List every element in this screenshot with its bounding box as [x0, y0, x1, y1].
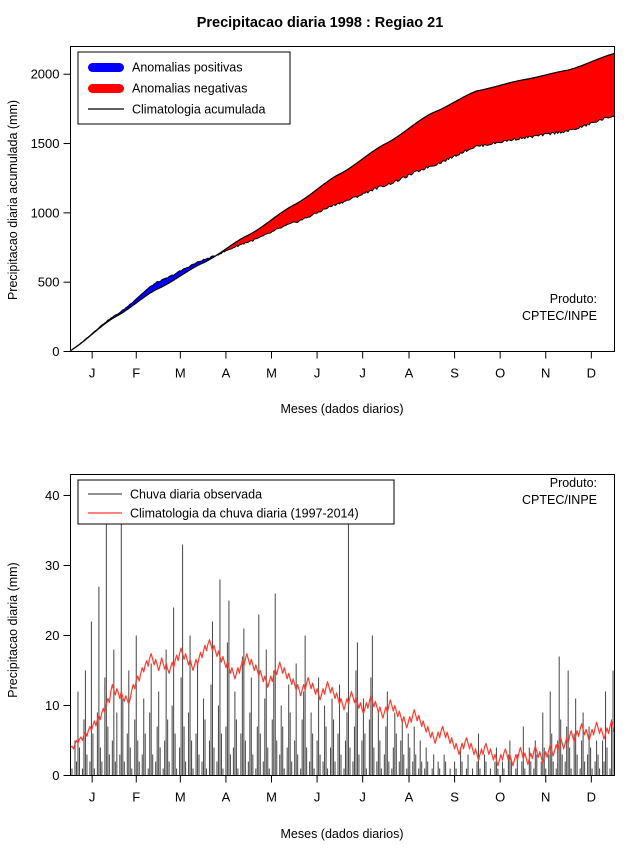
- y-tick-label-bottom: 0: [52, 768, 59, 783]
- x-tick-label-bottom: M: [266, 790, 277, 805]
- figure-page: Precipitacao diaria 1998 : Regiao 21 050…: [0, 0, 640, 850]
- legend-bottom: Chuva diaria observadaClimatologia da ch…: [78, 480, 394, 524]
- x-axis-ticks-bottom: JFMAMJJASOND: [71, 776, 615, 805]
- producer-label-bottom-line2: CPTEC/INPE: [522, 493, 597, 507]
- y-tick-label-top: 1000: [31, 205, 60, 220]
- x-tick-label-top: A: [222, 366, 231, 381]
- y-tick-label-bottom: 40: [45, 488, 59, 503]
- y-tick-label-top: 500: [38, 275, 60, 290]
- x-tick-label-bottom: D: [587, 790, 596, 805]
- legend-label-0: Chuva diaria observada: [130, 488, 262, 502]
- y-tick-label-bottom: 20: [45, 628, 59, 643]
- legend-swatch-1: [88, 84, 124, 93]
- x-tick-label-bottom: A: [405, 790, 414, 805]
- x-tick-label-top: J: [314, 366, 321, 381]
- legend-label-0: Anomalias positivas: [132, 61, 242, 75]
- x-tick-label-bottom: M: [175, 790, 186, 805]
- y-tick-label-bottom: 30: [45, 558, 59, 573]
- x-tick-label-bottom: J: [89, 790, 96, 805]
- producer-label-top-line1: Produto:: [550, 292, 597, 306]
- y-tick-label-bottom: 10: [45, 698, 59, 713]
- daily-series-group: [71, 489, 615, 776]
- y-tick-label-top: 1500: [31, 136, 60, 151]
- x-axis-ticks-top: JFMAMJJASOND: [71, 352, 615, 381]
- x-tick-label-top: M: [266, 366, 277, 381]
- x-tick-label-top: O: [495, 366, 505, 381]
- legend-swatch-0: [88, 63, 124, 72]
- x-tick-label-top: F: [132, 366, 140, 381]
- observed-bars-group: [71, 489, 615, 776]
- daily-plot-area: [71, 489, 615, 776]
- x-tick-label-bottom: A: [222, 790, 231, 805]
- cumulative-precipitation-chart: Precipitacao diaria 1998 : Regiao 21 050…: [0, 0, 640, 425]
- cumulative-chart-svg: Precipitacao diaria 1998 : Regiao 21 050…: [0, 0, 640, 425]
- legend-label-2: Climatologia acumulada: [132, 103, 265, 117]
- x-tick-label-bottom: F: [132, 790, 140, 805]
- y-tick-label-top: 2000: [31, 67, 60, 82]
- daily-climatology-line: [71, 640, 615, 766]
- producer-label-top-line2: CPTEC/INPE: [522, 309, 597, 323]
- daily-chart-svg: 010203040 JFMAMJJASOND Precipitacao diar…: [0, 425, 640, 850]
- legend-label-1: Anomalias negativas: [132, 82, 247, 96]
- y-tick-label-top: 0: [52, 344, 59, 359]
- y-axis-label-top: Precipitacao diaria acumulada (mm): [6, 100, 20, 300]
- x-tick-label-top: S: [450, 366, 459, 381]
- x-tick-label-top: J: [359, 366, 366, 381]
- y-axis-ticks-bottom: 010203040: [45, 488, 70, 783]
- x-tick-label-top: A: [405, 366, 414, 381]
- legend-label-1: Climatologia da chuva diaria (1997-2014): [130, 507, 359, 521]
- x-tick-label-top: M: [175, 366, 186, 381]
- x-tick-label-bottom: J: [359, 790, 366, 805]
- x-tick-label-bottom: O: [495, 790, 505, 805]
- x-tick-label-top: N: [541, 366, 550, 381]
- positive-anomaly-fill: [71, 256, 216, 351]
- x-tick-label-bottom: S: [450, 790, 459, 805]
- y-axis-label-bottom: Precipitacao diaria (mm): [6, 562, 20, 697]
- x-tick-label-top: D: [587, 366, 596, 381]
- x-axis-label-bottom: Meses (dados diarios): [281, 827, 404, 841]
- x-tick-label-bottom: J: [314, 790, 321, 805]
- x-tick-label-top: J: [89, 366, 96, 381]
- legend-top: Anomalias positivasAnomalias negativasCl…: [78, 52, 290, 124]
- y-axis-ticks-top: 0500100015002000: [31, 67, 71, 359]
- x-tick-label-bottom: N: [541, 790, 550, 805]
- producer-label-bottom-line1: Produto:: [550, 476, 597, 490]
- daily-precipitation-chart: 010203040 JFMAMJJASOND Precipitacao diar…: [0, 425, 640, 850]
- page-title: Precipitacao diaria 1998 : Regiao 21: [197, 15, 444, 31]
- x-axis-label-top: Meses (dados diarios): [281, 402, 404, 416]
